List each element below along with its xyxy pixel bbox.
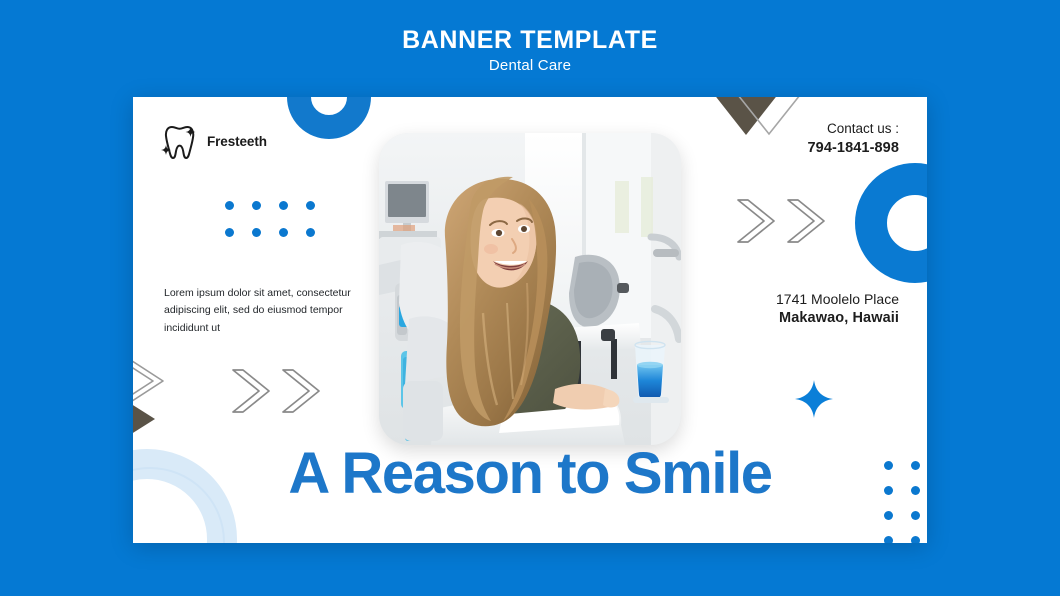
hero-photo bbox=[379, 133, 681, 445]
page-header: BANNER TEMPLATE Dental Care bbox=[0, 27, 1060, 74]
chevron-pair-right-icon bbox=[730, 191, 840, 251]
banner-card: Fresteeth Contact us : 794-1841-898 1741… bbox=[133, 97, 927, 543]
contact-block: Contact us : 794-1841-898 bbox=[808, 119, 900, 156]
brand-name: Fresteeth bbox=[207, 134, 267, 149]
headline: A Reason to Smile bbox=[133, 442, 927, 507]
dark-triangle-icon bbox=[713, 97, 779, 135]
address-city: Makawao, Hawaii bbox=[776, 310, 899, 326]
outline-triangle-icon bbox=[736, 97, 802, 137]
contact-phone: 794-1841-898 bbox=[808, 140, 900, 156]
body-copy: Lorem ipsum dolor sit amet, consectetur … bbox=[164, 285, 364, 337]
tooth-sparkle-icon bbox=[160, 119, 208, 163]
chevron-edge-left-icon bbox=[133, 355, 189, 445]
banner-template-preview: BANNER TEMPLATE Dental Care bbox=[0, 0, 1060, 596]
blue-ring-right-decoration bbox=[855, 163, 927, 283]
brand-logo: Fresteeth bbox=[160, 119, 267, 163]
address-block: 1741 Moolelo Place Makawao, Hawaii bbox=[776, 289, 899, 326]
blue-ring-top-decoration bbox=[287, 97, 371, 139]
chevron-pair-left-icon bbox=[225, 361, 335, 421]
blue-star-icon bbox=[795, 380, 833, 418]
page-title: BANNER TEMPLATE bbox=[0, 27, 1060, 54]
dot-grid-left bbox=[225, 201, 315, 237]
hero-photo-image bbox=[379, 133, 681, 445]
contact-label: Contact us : bbox=[808, 119, 900, 139]
page-subtitle: Dental Care bbox=[0, 57, 1060, 74]
address-street: 1741 Moolelo Place bbox=[776, 289, 899, 309]
